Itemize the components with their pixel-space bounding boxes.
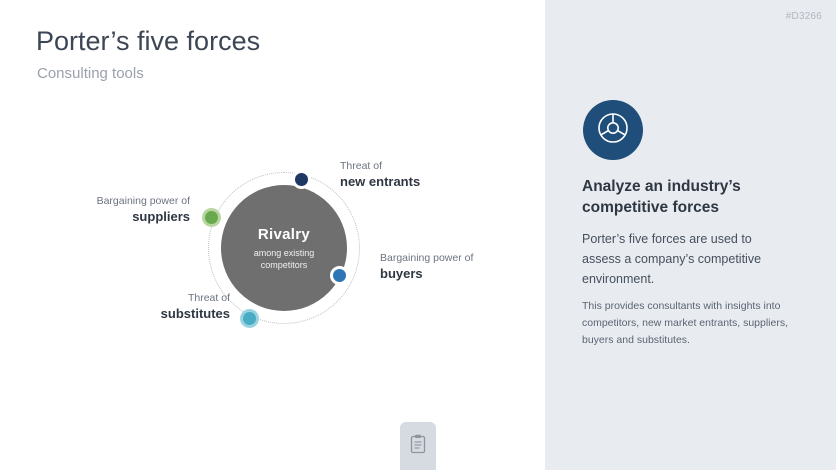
center-node-title: Rivalry [258, 226, 310, 243]
slide-code-tag: #D3266 [786, 11, 822, 22]
node-new-entrants[interactable] [292, 170, 311, 189]
label-substitutes: Threat of substitutes [15, 291, 230, 322]
node-suppliers[interactable] [205, 211, 218, 224]
porters-five-forces-diagram: Rivalry among existing competitors Threa… [150, 150, 510, 370]
center-node-subtitle-line1: among existing [254, 247, 315, 259]
right-heading: Analyze an industry’s competitive forces [582, 176, 817, 218]
clipboard-icon [410, 434, 426, 459]
bottom-icon-container[interactable] [400, 422, 436, 470]
page-title: Porter’s five forces [36, 26, 260, 57]
center-node-subtitle: among existing competitors [254, 247, 315, 271]
label-substitutes-strong: substitutes [15, 305, 230, 322]
right-heading-line2: competitive forces [582, 197, 817, 218]
label-suppliers-small: Bargaining power of [97, 195, 190, 207]
node-buyers[interactable] [330, 266, 349, 285]
label-new-entrants-small: Threat of [340, 160, 382, 172]
label-suppliers-strong: suppliers [0, 208, 190, 225]
page-subtitle: Consulting tools [37, 65, 144, 82]
label-substitutes-small: Threat of [188, 292, 230, 304]
right-body-text: Porter’s five forces are used to assess … [582, 229, 792, 289]
node-substitutes[interactable] [243, 312, 256, 325]
label-buyers: Bargaining power of buyers [380, 251, 473, 282]
label-buyers-small: Bargaining power of [380, 252, 473, 264]
pie-chart-icon [596, 111, 630, 150]
badge-circle [583, 100, 643, 160]
label-new-entrants-strong: new entrants [340, 173, 420, 190]
label-buyers-strong: buyers [380, 265, 473, 282]
slide-root: Porter’s five forces Consulting tools Ri… [0, 0, 836, 470]
right-info-pane: #D3266 Analyze an industry’s competitive… [545, 0, 836, 470]
right-heading-line1: Analyze an industry’s [582, 176, 817, 197]
label-new-entrants: Threat of new entrants [340, 159, 420, 190]
center-node-subtitle-line2: competitors [254, 259, 315, 271]
left-content-pane: Porter’s five forces Consulting tools Ri… [0, 0, 545, 470]
center-node-rivalry[interactable]: Rivalry among existing competitors [221, 185, 347, 311]
label-suppliers: Bargaining power of suppliers [0, 194, 190, 225]
right-small-text: This provides consultants with insights … [582, 298, 788, 349]
